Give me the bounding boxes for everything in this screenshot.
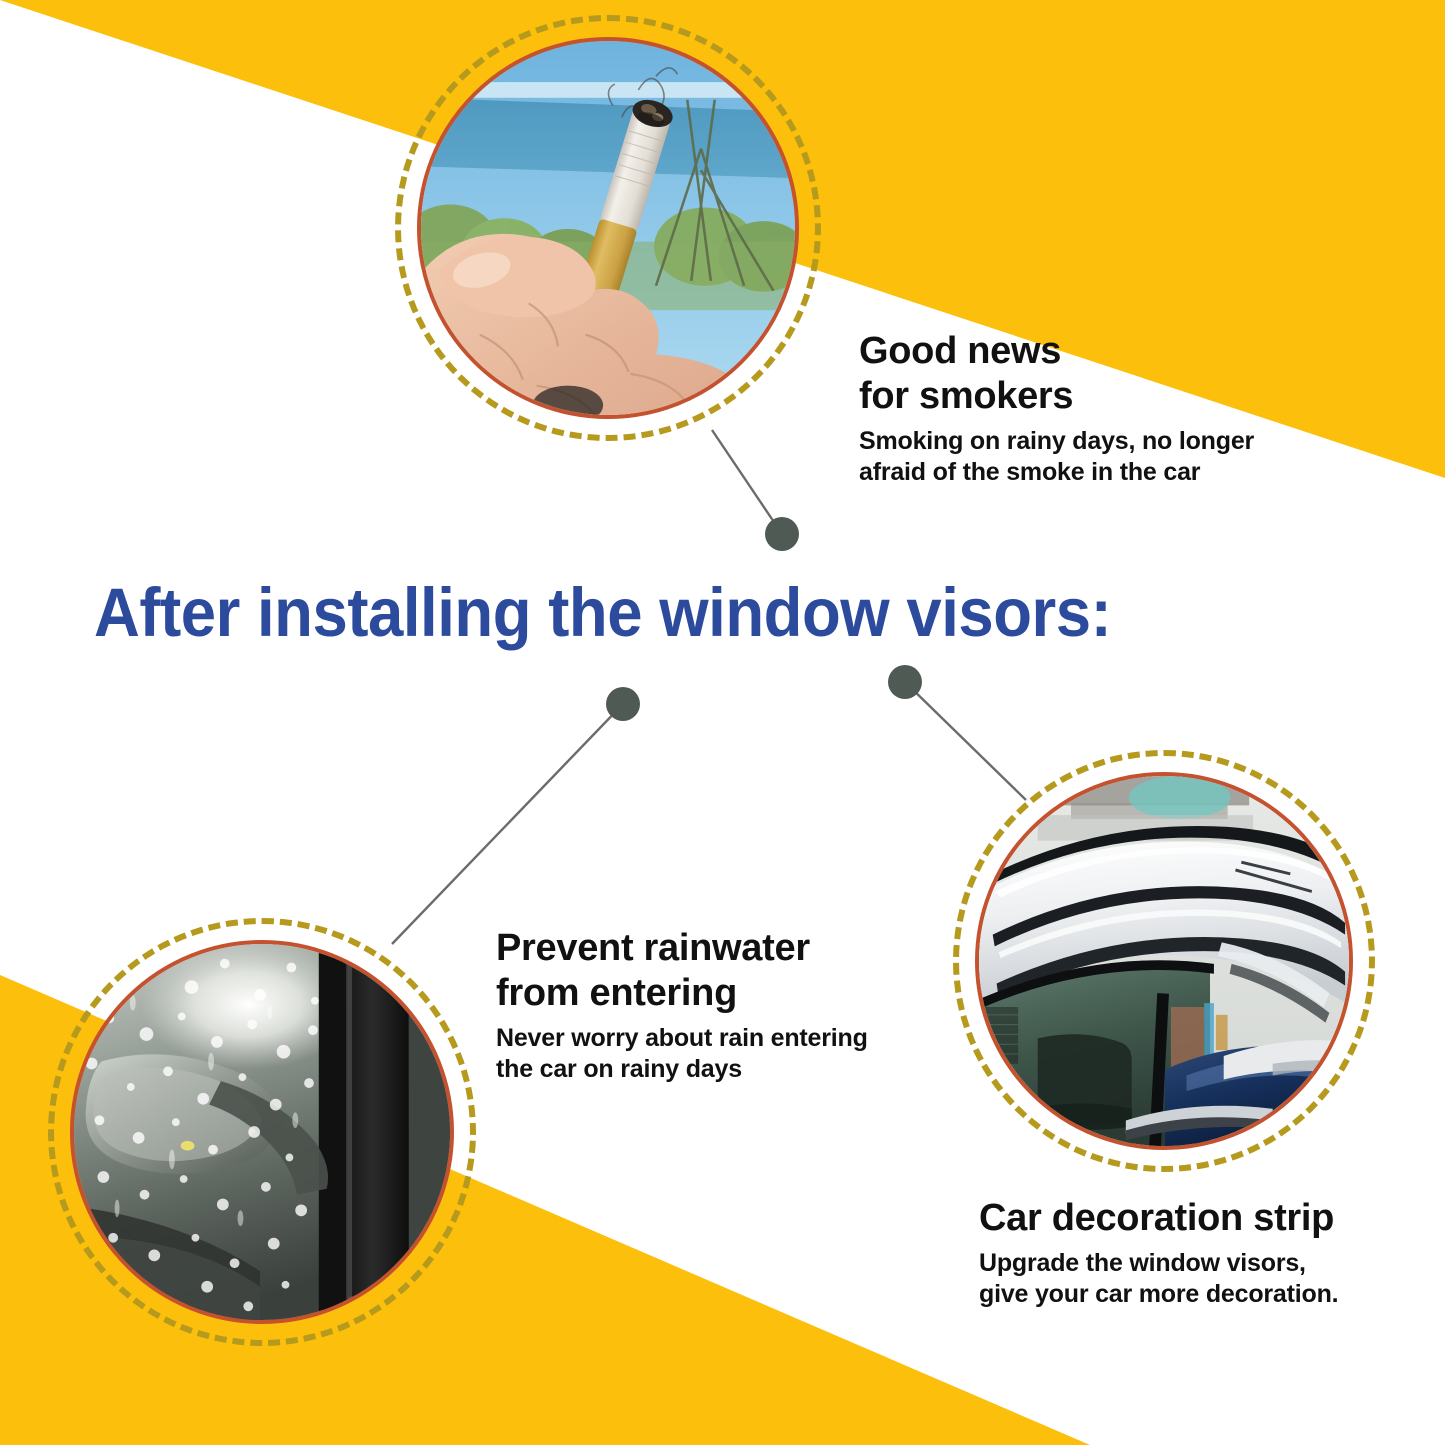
feature-subtitle-smokers: Smoking on rainy days, no longer afraid … [859, 426, 1329, 489]
feature-subtitle-decoration: Upgrade the window visors, give your car… [979, 1248, 1409, 1311]
feature-text-smokers: Good news for smokers Smoking on rainy d… [859, 329, 1329, 488]
feature-text-rainwater: Prevent rainwater from entering Never wo… [496, 926, 916, 1085]
feature-text-decoration: Car decoration strip Upgrade the window … [979, 1196, 1409, 1310]
connector-line-decoration [905, 682, 1026, 800]
feature-badge-rainwater [48, 918, 476, 1346]
connector-line-smokers [712, 430, 782, 534]
feature-badge-smokers [395, 15, 821, 441]
car-window-visor-closeup-photo [975, 772, 1353, 1150]
feature-title-rainwater: Prevent rainwater from entering [496, 926, 916, 1016]
hand-holding-lit-cigarette-photo [417, 37, 799, 419]
rain-covered-car-window-photo [70, 940, 454, 1324]
connector-line-rainwater [392, 704, 623, 944]
infographic-canvas: After installing the window visors: Good… [0, 0, 1445, 1445]
feature-title-decoration: Car decoration strip [979, 1196, 1409, 1241]
feature-title-smokers: Good news for smokers [859, 329, 1329, 419]
connector-dot-rainwater [606, 687, 640, 721]
connector-dot-smokers [765, 517, 799, 551]
connector-dot-decoration [888, 665, 922, 699]
page-title: After installing the window visors: [94, 578, 1111, 647]
feature-subtitle-rainwater: Never worry about rain entering the car … [496, 1023, 916, 1086]
feature-badge-decoration [953, 750, 1375, 1172]
